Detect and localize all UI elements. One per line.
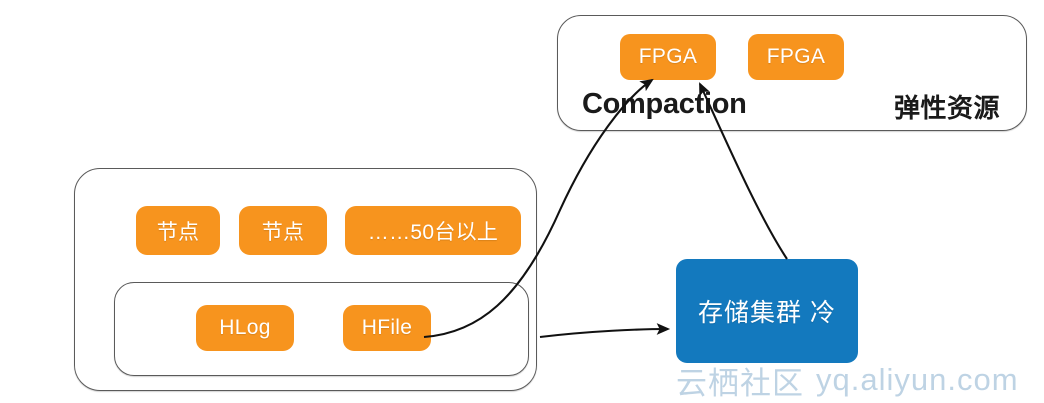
cluster-node-2[interactable]: 节点: [239, 206, 327, 255]
connector-hfile-to-storage: [540, 329, 668, 337]
elastic-resource-label: 弹性资源: [894, 88, 1000, 125]
watermark: 云栖社区 yq.aliyun.com: [676, 360, 1019, 400]
watermark-cn-text: 云栖社区: [676, 358, 804, 403]
diagram-canvas: FPGA FPGA Compaction 弹性资源 节点 节点 ……50台以上 …: [0, 0, 1044, 403]
watermark-url-text: yq.aliyun.com: [816, 362, 1019, 398]
hbase-storage-files-group: [114, 282, 529, 376]
hlog-node[interactable]: HLog: [196, 305, 294, 351]
fpga-node-1[interactable]: FPGA: [620, 34, 716, 80]
storage-cluster-node[interactable]: 存储集群 冷: [676, 259, 858, 363]
fpga-node-2[interactable]: FPGA: [748, 34, 844, 80]
cluster-node-1[interactable]: 节点: [136, 206, 220, 255]
compaction-label: Compaction: [582, 88, 747, 121]
hfile-node[interactable]: HFile: [343, 305, 431, 351]
cluster-node-count-label[interactable]: ……50台以上: [345, 206, 521, 255]
